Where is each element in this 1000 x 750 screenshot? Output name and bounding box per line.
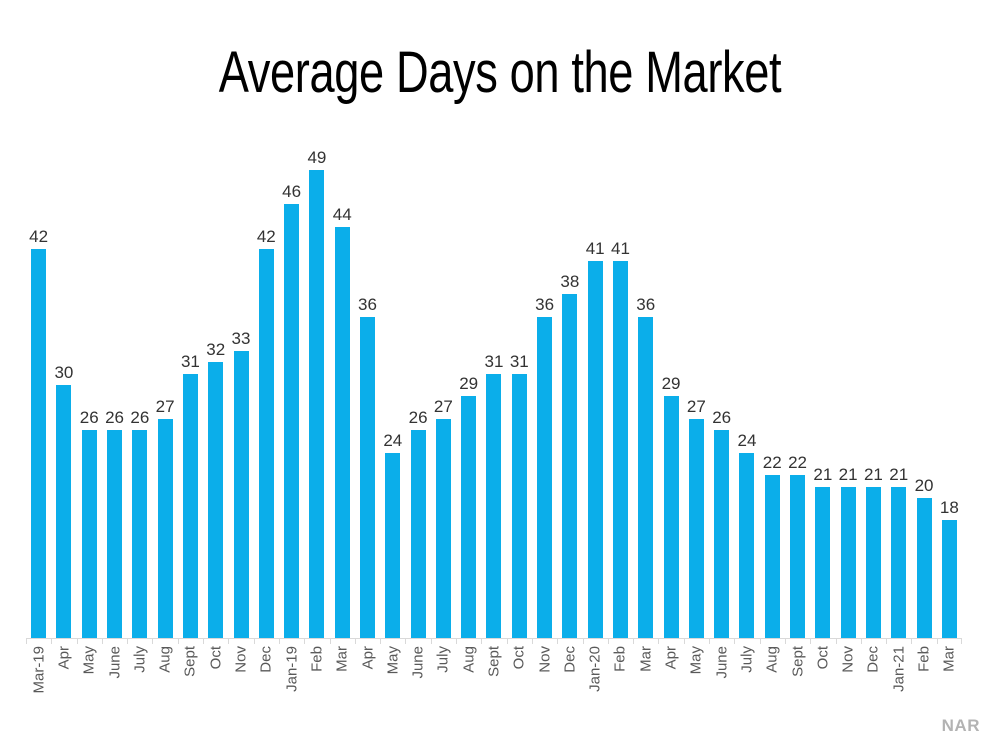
bar-slot[interactable]: 46 bbox=[279, 140, 304, 638]
page-title: Average Days on the Market bbox=[110, 38, 890, 108]
bar[interactable] bbox=[765, 475, 780, 638]
x-axis-label-slot: Aug bbox=[760, 646, 785, 706]
bar[interactable] bbox=[259, 249, 274, 638]
x-axis-label: Mar bbox=[335, 646, 350, 672]
x-axis-ticks bbox=[26, 638, 962, 644]
x-axis-label: Aug bbox=[158, 646, 173, 673]
bar-value-label: 26 bbox=[105, 408, 124, 427]
bar-slot[interactable]: 42 bbox=[26, 140, 51, 638]
bar[interactable] bbox=[360, 317, 375, 638]
bar-slot[interactable]: 36 bbox=[355, 140, 380, 638]
x-axis-tick bbox=[658, 638, 683, 644]
bar-value-label: 36 bbox=[358, 295, 377, 314]
x-axis-tick bbox=[583, 638, 608, 644]
x-axis-label: Dec bbox=[562, 646, 577, 673]
bar-value-label: 30 bbox=[54, 363, 73, 382]
bar-value-label: 24 bbox=[737, 431, 756, 450]
x-axis-label-slot: Apr bbox=[658, 646, 683, 706]
bar-value-label: 33 bbox=[232, 329, 251, 348]
bar-slot[interactable]: 21 bbox=[810, 140, 835, 638]
x-axis-label: Jan-19 bbox=[284, 646, 299, 692]
bar-slot[interactable]: 36 bbox=[633, 140, 658, 638]
x-axis-label: Oct bbox=[208, 646, 223, 669]
bar-value-label: 22 bbox=[788, 453, 807, 472]
x-axis-tick bbox=[178, 638, 203, 644]
slide-canvas: Average Days on the Market 4230262626273… bbox=[0, 0, 1000, 750]
bar[interactable] bbox=[309, 170, 324, 638]
bar-value-label: 38 bbox=[560, 272, 579, 291]
bar-slot[interactable]: 26 bbox=[405, 140, 430, 638]
bar-slot[interactable]: 26 bbox=[102, 140, 127, 638]
bar-slot[interactable]: 49 bbox=[304, 140, 329, 638]
x-axis-tick bbox=[734, 638, 759, 644]
bar[interactable] bbox=[815, 487, 830, 638]
bar[interactable] bbox=[461, 396, 476, 638]
bar[interactable] bbox=[714, 430, 729, 638]
bar[interactable] bbox=[512, 374, 527, 638]
bar-slot[interactable]: 21 bbox=[836, 140, 861, 638]
x-axis-tick bbox=[557, 638, 582, 644]
bar-value-label: 36 bbox=[636, 295, 655, 314]
x-axis-label-slot: Nov bbox=[532, 646, 557, 706]
bar[interactable] bbox=[31, 249, 46, 638]
bar-slot[interactable]: 22 bbox=[760, 140, 785, 638]
x-axis-label-slot: Nov bbox=[836, 646, 861, 706]
x-axis-tick bbox=[77, 638, 102, 644]
bar-value-label: 41 bbox=[611, 239, 630, 258]
bar-value-label: 26 bbox=[130, 408, 149, 427]
bar[interactable] bbox=[234, 351, 249, 638]
bar-slot[interactable]: 24 bbox=[380, 140, 405, 638]
bar[interactable] bbox=[790, 475, 805, 638]
nar-watermark: NAR bbox=[942, 716, 980, 736]
bar[interactable] bbox=[638, 317, 653, 638]
x-axis-label-slot: Aug bbox=[456, 646, 481, 706]
bar-slot[interactable]: 21 bbox=[886, 140, 911, 638]
x-axis-label-slot: Apr bbox=[355, 646, 380, 706]
bar[interactable] bbox=[158, 419, 173, 638]
x-axis-label-slot: Feb bbox=[608, 646, 633, 706]
x-axis-label-slot: July bbox=[127, 646, 152, 706]
bar-slot[interactable]: 36 bbox=[532, 140, 557, 638]
x-axis-tick bbox=[330, 638, 355, 644]
bar[interactable] bbox=[891, 487, 906, 638]
bar-value-label: 42 bbox=[29, 227, 48, 246]
x-axis-label-slot: Oct bbox=[507, 646, 532, 706]
bar-value-label: 27 bbox=[156, 397, 175, 416]
x-axis-tick bbox=[279, 638, 304, 644]
bar-slot[interactable]: 21 bbox=[861, 140, 886, 638]
x-axis-label-slot: Sept bbox=[481, 646, 506, 706]
x-axis-label: July bbox=[739, 646, 754, 673]
x-axis-tick bbox=[507, 638, 532, 644]
x-axis-label: July bbox=[132, 646, 147, 673]
bar-value-label: 21 bbox=[889, 465, 908, 484]
x-axis-tick bbox=[456, 638, 481, 644]
x-axis-label-slot: Dec bbox=[861, 646, 886, 706]
x-axis-tick bbox=[709, 638, 734, 644]
x-axis-label-slot: Nov bbox=[228, 646, 253, 706]
bar[interactable] bbox=[689, 419, 704, 638]
bar-slot[interactable]: 31 bbox=[507, 140, 532, 638]
x-axis-tick bbox=[481, 638, 506, 644]
x-axis-label-slot: Oct bbox=[203, 646, 228, 706]
x-axis-label: Mar bbox=[942, 646, 957, 672]
x-axis-tick bbox=[254, 638, 279, 644]
bar-slot[interactable]: 41 bbox=[583, 140, 608, 638]
bar[interactable] bbox=[664, 396, 679, 638]
x-axis-tick bbox=[380, 638, 405, 644]
x-axis-label-slot: Dec bbox=[254, 646, 279, 706]
x-axis-label-slot: Mar bbox=[937, 646, 962, 706]
bar-value-label: 18 bbox=[940, 498, 959, 517]
x-axis-label: May bbox=[689, 646, 704, 674]
bar-slot[interactable]: 29 bbox=[456, 140, 481, 638]
bar-slot[interactable]: 38 bbox=[557, 140, 582, 638]
bar-value-label: 49 bbox=[307, 148, 326, 167]
bar[interactable] bbox=[588, 261, 603, 638]
x-axis-label-slot: May bbox=[684, 646, 709, 706]
x-axis-label-slot: June bbox=[102, 646, 127, 706]
x-axis-label: Sept bbox=[486, 646, 501, 677]
bar-slot[interactable]: 42 bbox=[254, 140, 279, 638]
bar-slot[interactable]: 41 bbox=[608, 140, 633, 638]
bar[interactable] bbox=[411, 430, 426, 638]
x-axis-label: Sept bbox=[183, 646, 198, 677]
x-axis-label: Mar bbox=[638, 646, 653, 672]
bar[interactable] bbox=[841, 487, 856, 638]
x-axis-label-slot: Mar bbox=[330, 646, 355, 706]
x-axis-label-slot: Dec bbox=[557, 646, 582, 706]
bar[interactable] bbox=[183, 374, 198, 638]
bar-slot[interactable]: 26 bbox=[77, 140, 102, 638]
x-axis-tick bbox=[102, 638, 127, 644]
x-axis-label: June bbox=[107, 646, 122, 679]
x-axis-label: Oct bbox=[512, 646, 527, 669]
bar-slot[interactable]: 32 bbox=[203, 140, 228, 638]
bar-value-label: 41 bbox=[586, 239, 605, 258]
x-axis-label: July bbox=[436, 646, 451, 673]
x-axis-label-slot: May bbox=[77, 646, 102, 706]
x-axis-label: Apr bbox=[664, 646, 679, 669]
bar[interactable] bbox=[436, 419, 451, 638]
x-axis-tick bbox=[836, 638, 861, 644]
bar-value-label: 21 bbox=[839, 465, 858, 484]
x-axis-label: Nov bbox=[841, 646, 856, 673]
x-axis-tick bbox=[532, 638, 557, 644]
x-axis-tick bbox=[304, 638, 329, 644]
bar-slot[interactable]: 26 bbox=[127, 140, 152, 638]
x-axis-label: Oct bbox=[815, 646, 830, 669]
x-axis-label-slot: Jan-20 bbox=[583, 646, 608, 706]
bar[interactable] bbox=[284, 204, 299, 638]
x-axis-tick bbox=[51, 638, 76, 644]
bar[interactable] bbox=[132, 430, 147, 638]
bar-value-label: 29 bbox=[459, 374, 478, 393]
x-axis-label: Apr bbox=[360, 646, 375, 669]
bar-slot[interactable]: 31 bbox=[481, 140, 506, 638]
bar-slot[interactable]: 27 bbox=[431, 140, 456, 638]
bar-value-label: 46 bbox=[282, 182, 301, 201]
bar-value-label: 26 bbox=[80, 408, 99, 427]
bar-slot[interactable]: 22 bbox=[785, 140, 810, 638]
x-axis-tick bbox=[760, 638, 785, 644]
bar-slot[interactable]: 29 bbox=[658, 140, 683, 638]
x-axis-label: Feb bbox=[917, 646, 932, 672]
bar-value-label: 32 bbox=[206, 340, 225, 359]
bar-value-label: 26 bbox=[409, 408, 428, 427]
x-axis-label-slot: Feb bbox=[304, 646, 329, 706]
bar[interactable] bbox=[562, 294, 577, 638]
x-axis-tick bbox=[633, 638, 658, 644]
x-axis-label-slot: July bbox=[431, 646, 456, 706]
x-axis-label: Nov bbox=[537, 646, 552, 673]
bar[interactable] bbox=[739, 453, 754, 638]
x-axis-label: Apr bbox=[56, 646, 71, 669]
x-axis-labels: Mar-19AprMayJuneJulyAugSeptOctNovDecJan-… bbox=[26, 646, 962, 706]
bar[interactable] bbox=[208, 362, 223, 638]
bar-value-label: 31 bbox=[181, 352, 200, 371]
bar[interactable] bbox=[82, 430, 97, 638]
x-axis-label: Jan-20 bbox=[588, 646, 603, 692]
x-axis-label: May bbox=[82, 646, 97, 674]
bar-slot[interactable]: 27 bbox=[152, 140, 177, 638]
bar[interactable] bbox=[107, 430, 122, 638]
bar-slot[interactable]: 27 bbox=[684, 140, 709, 638]
x-axis-tick bbox=[861, 638, 886, 644]
x-axis-label-slot: Mar-19 bbox=[26, 646, 51, 706]
x-axis-label: Dec bbox=[866, 646, 881, 673]
x-axis-label: June bbox=[714, 646, 729, 679]
bar-slot[interactable]: 18 bbox=[937, 140, 962, 638]
bar-slot[interactable]: 24 bbox=[734, 140, 759, 638]
x-axis-label: June bbox=[411, 646, 426, 679]
x-axis-label-slot: May bbox=[380, 646, 405, 706]
bar-value-label: 44 bbox=[333, 205, 352, 224]
x-axis-label: Aug bbox=[765, 646, 780, 673]
bar-value-label: 27 bbox=[687, 397, 706, 416]
bar-series: 4230262626273132334246494436242627293131… bbox=[26, 140, 962, 638]
bar-value-label: 27 bbox=[434, 397, 453, 416]
x-axis-label: Nov bbox=[234, 646, 249, 673]
bar[interactable] bbox=[537, 317, 552, 638]
x-axis-label-slot: Apr bbox=[51, 646, 76, 706]
x-axis-label-slot: Sept bbox=[785, 646, 810, 706]
x-axis-label: Sept bbox=[790, 646, 805, 677]
bar-slot[interactable]: 20 bbox=[911, 140, 936, 638]
bar-value-label: 21 bbox=[813, 465, 832, 484]
x-axis-label-slot: Feb bbox=[911, 646, 936, 706]
bar-slot[interactable]: 33 bbox=[228, 140, 253, 638]
x-axis-label-slot: Aug bbox=[152, 646, 177, 706]
x-axis-tick bbox=[608, 638, 633, 644]
x-axis-label-slot: June bbox=[405, 646, 430, 706]
bar-slot[interactable]: 26 bbox=[709, 140, 734, 638]
x-axis-label: Jan-21 bbox=[891, 646, 906, 692]
x-axis-label: Dec bbox=[259, 646, 274, 673]
x-axis-label: Feb bbox=[613, 646, 628, 672]
bar[interactable] bbox=[866, 487, 881, 638]
x-axis-label-slot: Oct bbox=[810, 646, 835, 706]
bar-slot[interactable]: 31 bbox=[178, 140, 203, 638]
x-axis-label: Aug bbox=[461, 646, 476, 673]
bar-value-label: 21 bbox=[864, 465, 883, 484]
bar-value-label: 26 bbox=[712, 408, 731, 427]
x-axis-label: May bbox=[385, 646, 400, 674]
bar-slot[interactable]: 44 bbox=[330, 140, 355, 638]
bar[interactable] bbox=[942, 520, 957, 638]
bar[interactable] bbox=[486, 374, 501, 638]
x-axis-tick bbox=[785, 638, 810, 644]
x-axis-tick bbox=[152, 638, 177, 644]
bar[interactable] bbox=[385, 453, 400, 638]
bar-value-label: 31 bbox=[510, 352, 529, 371]
x-axis-tick bbox=[684, 638, 709, 644]
bar[interactable] bbox=[335, 227, 350, 638]
bar[interactable] bbox=[613, 261, 628, 638]
x-axis-label-slot: Mar bbox=[633, 646, 658, 706]
bar-value-label: 42 bbox=[257, 227, 276, 246]
x-axis-label-slot: July bbox=[734, 646, 759, 706]
x-axis-label-slot: Sept bbox=[178, 646, 203, 706]
x-axis-label-slot: Jan-19 bbox=[279, 646, 304, 706]
x-axis-tick bbox=[431, 638, 456, 644]
x-axis-tick bbox=[355, 638, 380, 644]
bar[interactable] bbox=[917, 498, 932, 638]
bar-value-label: 20 bbox=[915, 476, 934, 495]
x-axis-tick bbox=[203, 638, 228, 644]
x-axis-label: Mar-19 bbox=[31, 646, 46, 694]
x-axis-tick bbox=[911, 638, 936, 644]
x-axis-tick bbox=[405, 638, 430, 644]
bar-value-label: 29 bbox=[662, 374, 681, 393]
bar-value-label: 31 bbox=[485, 352, 504, 371]
x-axis-label-slot: June bbox=[709, 646, 734, 706]
x-axis-label-slot: Jan-21 bbox=[886, 646, 911, 706]
bar-value-label: 36 bbox=[535, 295, 554, 314]
bar-value-label: 22 bbox=[763, 453, 782, 472]
bar-slot[interactable]: 30 bbox=[51, 140, 76, 638]
x-axis-tick bbox=[810, 638, 835, 644]
x-axis-tick bbox=[26, 638, 51, 644]
x-axis-tick bbox=[127, 638, 152, 644]
x-axis-tick bbox=[937, 638, 962, 644]
chart-plot-area: 4230262626273132334246494436242627293131… bbox=[26, 140, 962, 638]
bar-value-label: 24 bbox=[383, 431, 402, 450]
x-axis-label: Feb bbox=[309, 646, 324, 672]
bar[interactable] bbox=[56, 385, 71, 638]
x-axis-tick bbox=[228, 638, 253, 644]
x-axis-tick bbox=[886, 638, 911, 644]
